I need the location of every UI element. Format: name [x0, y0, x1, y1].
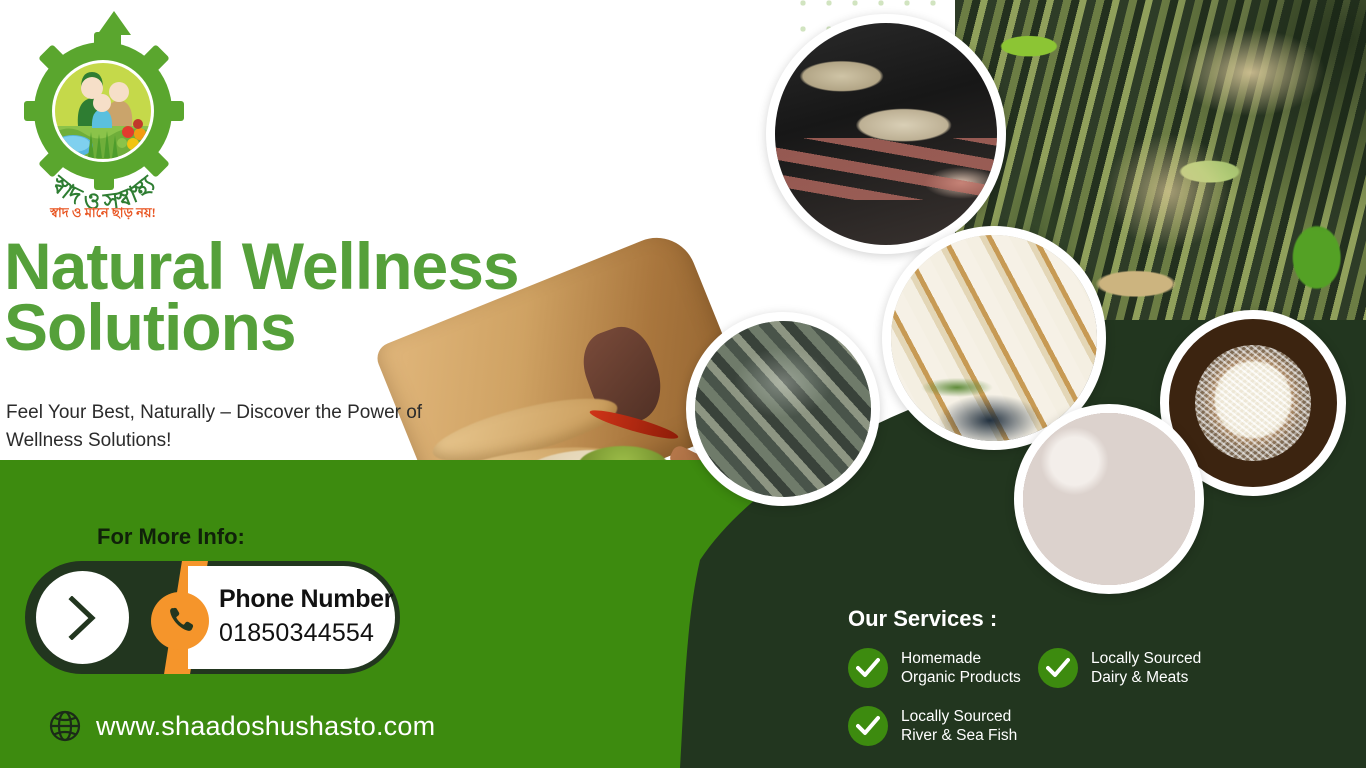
service-line-2: River & Sea Fish [901, 726, 1017, 745]
service-label: Locally Sourced River & Sea Fish [901, 707, 1017, 746]
service-line-2: Dairy & Meats [1091, 668, 1201, 687]
website-url[interactable]: www.shaadoshushasto.com [96, 711, 435, 742]
shrimp-on-tray-photo [766, 14, 1006, 254]
check-circle-icon [1038, 648, 1078, 688]
check-circle-icon [848, 706, 888, 746]
phone-label: Phone Number [219, 585, 393, 614]
service-label: Locally Sourced Dairy & Meats [1091, 649, 1201, 688]
service-line-1: Homemade [901, 649, 1021, 668]
check-circle-icon [848, 648, 888, 688]
services-title: Our Services : [848, 606, 997, 632]
service-label: Homemade Organic Products [901, 649, 1021, 688]
contact-card[interactable]: Phone Number 01850344554 [25, 561, 400, 674]
small-fish-bowl-photo [686, 312, 880, 506]
brand-logo: স্বাদ ও সুস্বাস্থ্য স্বাদ ও মানে ছাড় নয… [18, 8, 188, 223]
hero-tagline: Feel Your Best, Naturally – Discover the… [6, 399, 426, 454]
logo-gear-icon: স্বাদ ও সুস্বাস্থ্য [18, 8, 188, 208]
service-item-dairy-meats: Locally Sourced Dairy & Meats [1038, 648, 1201, 688]
chevron-right-icon[interactable] [68, 596, 96, 640]
promotional-banner: স্বাদ ও সুস্বাস্থ্য স্বাদ ও মানে ছাড় নয… [0, 0, 1366, 768]
service-line-1: Locally Sourced [1091, 649, 1201, 668]
service-item-river-sea-fish: Locally Sourced River & Sea Fish [848, 706, 1017, 746]
for-more-info-label: For More Info: [97, 524, 245, 550]
headline-line-1: Natural Wellness [4, 236, 644, 297]
eggs-photo [1014, 404, 1204, 594]
service-item-organic-products: Homemade Organic Products [848, 648, 1021, 688]
website-link[interactable]: www.shaadoshushasto.com [48, 706, 435, 746]
phone-number[interactable]: 01850344554 [219, 619, 374, 648]
service-line-1: Locally Sourced [901, 707, 1017, 726]
service-line-2: Organic Products [901, 668, 1021, 687]
headline-line-2: Solutions [4, 297, 644, 358]
page-title: Natural Wellness Solutions [4, 236, 644, 357]
logo-bengali-tagline: স্বাদ ও মানে ছাড় নয়! [18, 204, 188, 225]
contact-white-panel [188, 566, 395, 669]
phone-handset-icon [165, 605, 196, 636]
globe-icon [48, 709, 82, 743]
